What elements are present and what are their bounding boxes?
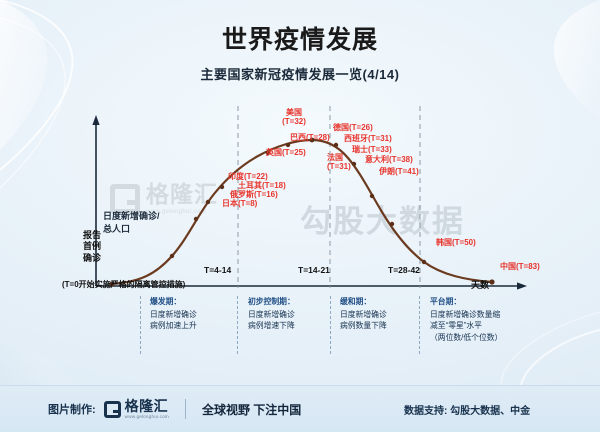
- footer-slogan: 全球视野 下注中国: [202, 401, 301, 418]
- marker-turkey: [206, 200, 210, 204]
- x-tick-2: T=14-21: [298, 265, 330, 275]
- label-germany: 德国(T=26): [333, 123, 373, 132]
- phase-outbreak: 爆发期： 日度新增确诊 病例加速上升: [150, 296, 238, 332]
- origin-line3: 确诊: [72, 253, 112, 264]
- phase-mitigation: 缓和期： 日度新增确诊 病例数量下降: [340, 296, 428, 332]
- x-tick-1: T=4-14: [204, 265, 231, 275]
- origin-first-case-label: 报告 首例 确诊: [72, 230, 112, 264]
- phase-plateau-line3: （两位数/低个位数）: [430, 332, 542, 344]
- phase-plateau-line1: 日度新增确诊数量缩: [430, 309, 542, 321]
- label-spain: 西班牙(T=31): [344, 134, 392, 143]
- epidemic-bell-curve: [112, 140, 492, 284]
- footer-credit-group: 图片制作: 格隆汇 www.gelonghui.com 全球视野 下注中国: [48, 399, 301, 420]
- label-france-line2: (T=31): [327, 162, 351, 171]
- x-tick-3: T=28-42: [388, 265, 420, 275]
- marker-russia: [194, 217, 198, 221]
- label-russia: 俄罗斯(T=16): [230, 190, 278, 199]
- footer-made-by-label: 图片制作:: [48, 401, 96, 417]
- footer-brand-url: www.gelonghui.com: [125, 415, 169, 420]
- origin-line1: 报告: [72, 230, 112, 241]
- marker-germany: [334, 143, 338, 147]
- marker-italy: [390, 222, 394, 226]
- marker-brazil: [286, 143, 290, 147]
- phase-annotation-row: 爆发期： 日度新增确诊 病例加速上升 初步控制期： 日度新增确诊 病例增速下降 …: [0, 296, 600, 362]
- phase-initial-control-line1: 日度新增确诊: [248, 309, 336, 321]
- phase-initial-control-line2: 病例增速下降: [248, 320, 336, 332]
- phase-outbreak-line1: 日度新增确诊: [150, 309, 238, 321]
- footer-data-source: 数据支持: 勾股大数据、中金: [404, 402, 530, 417]
- label-japan: 日本(T=8): [222, 199, 257, 208]
- x-axis-note: (T=0开始实施严格的隔离管控措施): [62, 279, 185, 290]
- label-usa-line2: (T=32): [272, 117, 316, 126]
- label-brazil: 巴西(T=28): [290, 133, 330, 142]
- label-india: 印度(T=22): [228, 172, 268, 181]
- footer-bar: 图片制作: 格隆汇 www.gelonghui.com 全球视野 下注中国 数据…: [0, 385, 600, 432]
- label-swiss: 瑞士(T=33): [352, 145, 392, 154]
- marker-china: [489, 279, 494, 284]
- phase-col-divider-1: [140, 296, 141, 354]
- label-iran: 伊朗(T=41): [379, 167, 419, 176]
- infographic-root: 世界疫情发展 主要国家新冠疫情发展一览(4/14) 格隆汇 www.gelong…: [0, 0, 600, 432]
- label-france: 法国 (T=31): [327, 153, 351, 171]
- marker-japan: [170, 254, 174, 258]
- phase-initial-control-title: 初步控制期：: [248, 296, 336, 308]
- phase-mitigation-title: 缓和期：: [340, 296, 428, 308]
- marker-korea: [422, 260, 426, 264]
- label-france-line1: 法国: [327, 153, 351, 162]
- y-axis-label-line1: 日度新增确诊/: [103, 210, 160, 223]
- phase-mitigation-line1: 日度新增确诊: [340, 309, 428, 321]
- phase-plateau: 平台期： 日度新增确诊数量缩 减至“零星”水平 （两位数/低个位数）: [430, 296, 542, 344]
- phase-initial-control: 初步控制期： 日度新增确诊 病例增速下降: [248, 296, 336, 332]
- label-china: 中国(T=83): [500, 262, 540, 271]
- page-title: 世界疫情发展: [0, 20, 600, 56]
- phase-plateau-line2: 减至“零星”水平: [430, 320, 542, 332]
- label-italy: 意大利(T=38): [365, 155, 413, 164]
- label-uk: 英国(T=25): [266, 148, 306, 157]
- footer-brand-text: 格隆汇: [125, 399, 169, 413]
- x-axis-name: 天数: [471, 278, 489, 291]
- origin-line2: 首例: [72, 241, 112, 252]
- phase-mitigation-line2: 病例数量下降: [340, 320, 428, 332]
- marker-france: [352, 162, 356, 166]
- marker-india: [220, 185, 224, 189]
- footer-divider: [185, 399, 186, 419]
- page-subtitle: 主要国家新冠疫情发展一览(4/14): [0, 64, 600, 83]
- footer-gelonghui-logo: 格隆汇 www.gelonghui.com: [104, 399, 169, 420]
- gelonghui-g-icon: [104, 401, 121, 418]
- label-korea: 韩国(T=50): [436, 238, 476, 247]
- label-usa: 美国 (T=32): [272, 108, 316, 126]
- marker-spain: [370, 194, 374, 198]
- phase-plateau-title: 平台期：: [430, 296, 542, 308]
- phase-outbreak-line2: 病例加速上升: [150, 320, 238, 332]
- label-usa-line1: 美国: [272, 108, 316, 117]
- label-turkey: 土耳其(T=18): [238, 181, 286, 190]
- phase-outbreak-title: 爆发期：: [150, 296, 238, 308]
